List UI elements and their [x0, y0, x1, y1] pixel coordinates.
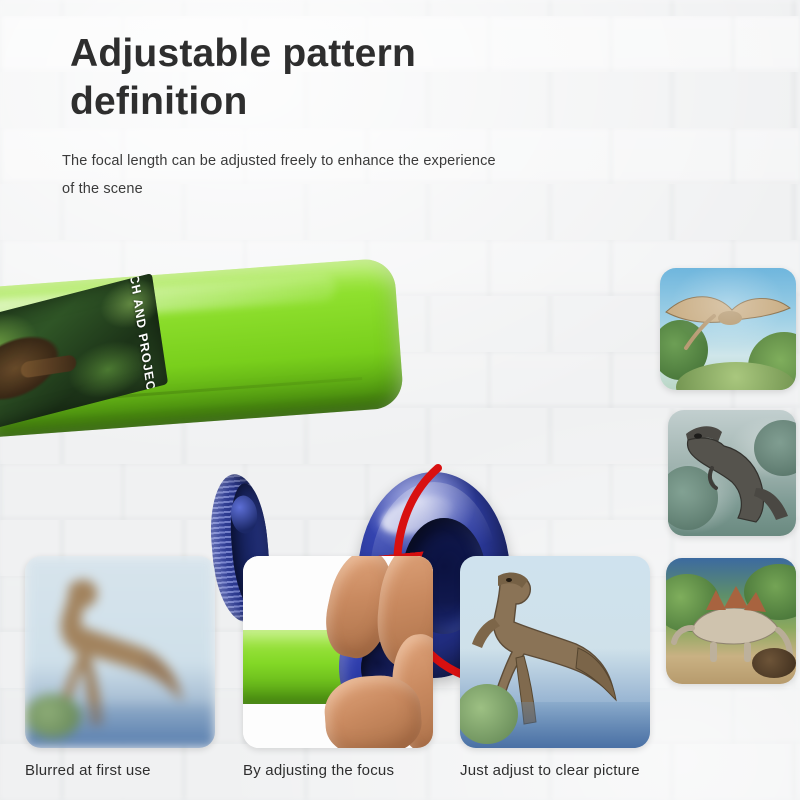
hand-adjust-scene: [243, 556, 433, 748]
thumbnail-pterodactyl: [660, 268, 796, 390]
steg-background-animal: [752, 648, 796, 678]
caption-adjusting-focus: By adjusting the focus: [243, 762, 394, 779]
thumbnail-tyrannosaurus: [668, 410, 796, 536]
pterodactyl-scene: [660, 268, 796, 390]
blurred-projection-scene: [25, 556, 215, 748]
pterodactyl-haze: [660, 268, 796, 390]
page-subtitle: The focal length can be adjusted freely …: [62, 148, 512, 204]
torch-body: TORCH AND PROJECTOR: [0, 257, 404, 437]
page-title: Adjustable pattern definition: [70, 30, 540, 125]
caption-clear-picture: Just adjust to clear picture: [460, 762, 640, 779]
hero-product-photo: TORCH AND PROJECTOR: [0, 228, 580, 518]
blurred-foliage: [25, 694, 81, 738]
step-image-clear-picture: [460, 556, 650, 748]
trex-figure: [668, 410, 796, 536]
thumbnail-stegosaurus: [666, 558, 796, 684]
step-image-adjusting-focus: [243, 556, 433, 748]
caption-blurred: Blurred at first use: [25, 762, 151, 779]
trex-scene: [668, 410, 796, 536]
step-image-blurred: [25, 556, 215, 748]
clear-projection-scene: [460, 556, 650, 748]
product-feature-image: Adjustable pattern definition The focal …: [0, 0, 800, 800]
stegosaurus-scene: [666, 558, 796, 684]
